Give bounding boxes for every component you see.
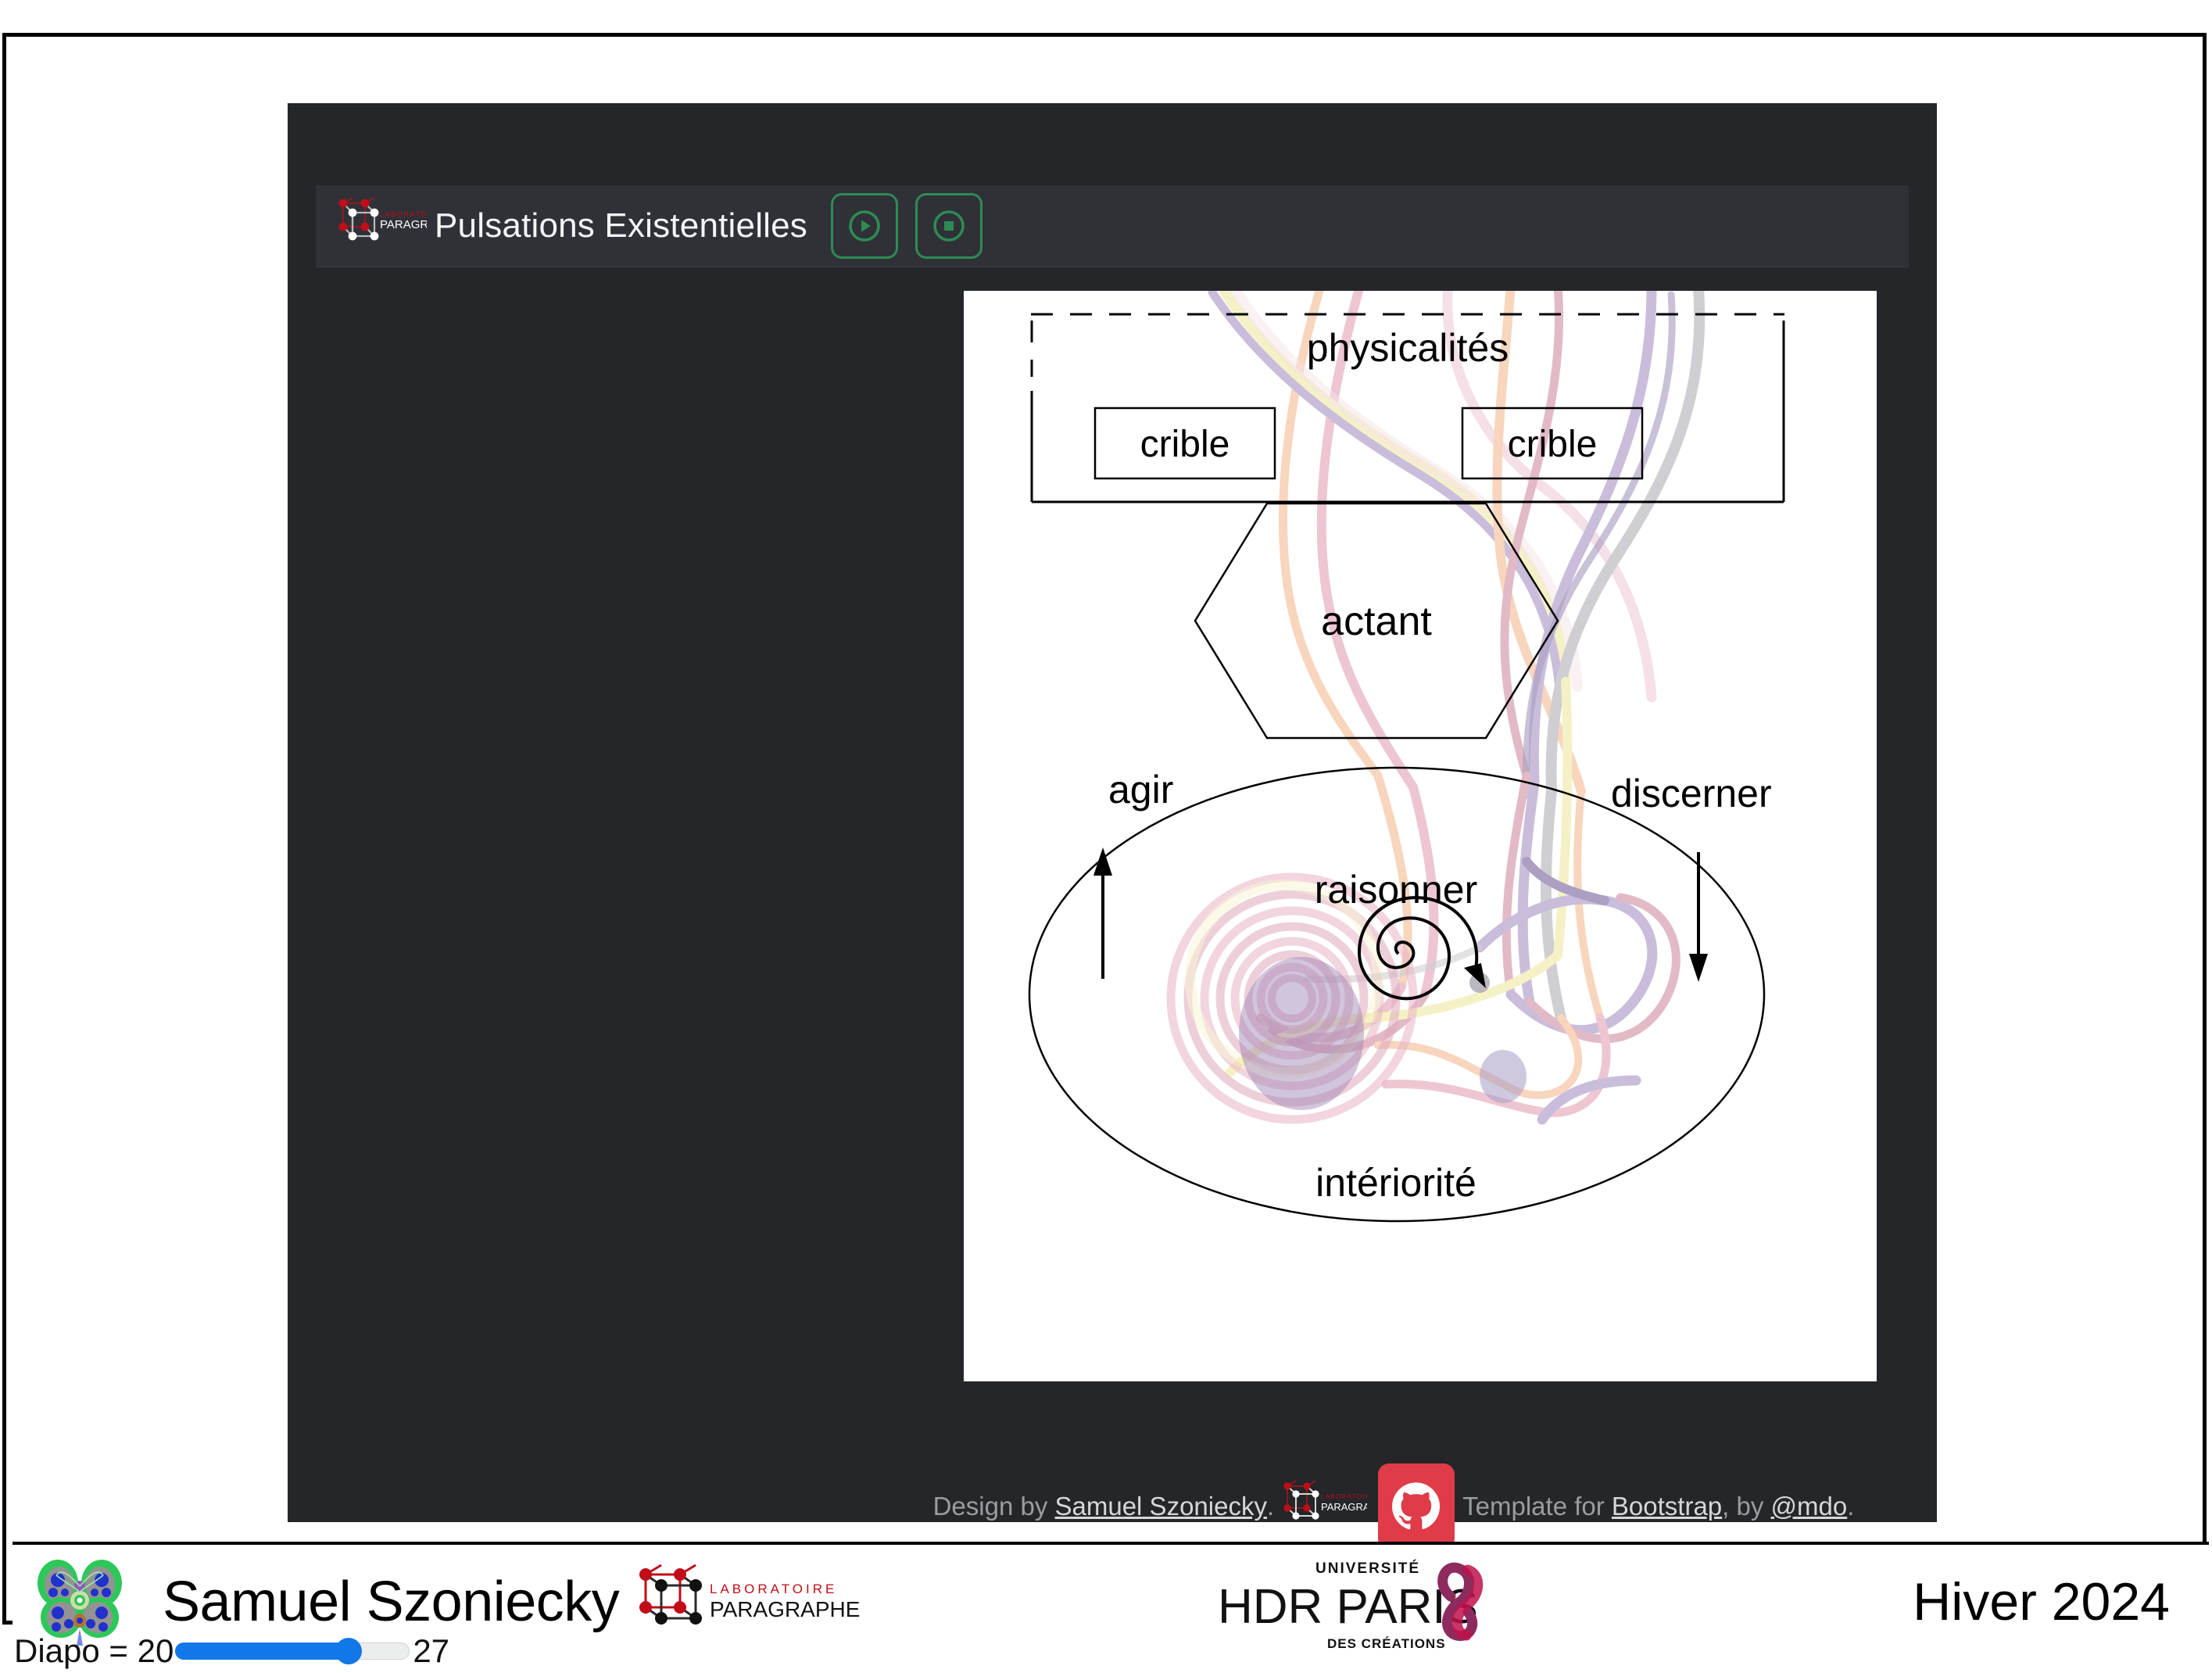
svg-text:LABORATOIRE: LABORATOIRE <box>710 1582 837 1596</box>
crible-right-label: crible <box>1508 424 1598 465</box>
svg-text:LABORATOIRE: LABORATOIRE <box>1321 1493 1367 1500</box>
presentation-deck: LABORATOIRE PARAGRAPHE Pulsations Existe… <box>288 103 1937 1522</box>
presenter-name: Samuel Szoniecky <box>163 1570 619 1634</box>
physicalites-label: physicalités <box>1307 326 1509 370</box>
deck-navbar: LABORATOIRE PARAGRAPHE Pulsations Existe… <box>316 185 1909 267</box>
svg-text:LABORATOIRE: LABORATOIRE <box>380 210 427 218</box>
github-icon <box>1389 1479 1444 1534</box>
author-suffix: . <box>1267 1492 1274 1521</box>
play-circle-icon <box>846 207 883 245</box>
crible-left-label: crible <box>1140 424 1230 465</box>
period-text: . <box>1847 1492 1854 1521</box>
svg-text:PARAGRAPHE: PARAGRAPHE <box>710 1597 860 1621</box>
diapo-range-fill <box>175 1643 349 1660</box>
deck-footer-credits: Design by Samuel Szoniecky . <box>569 1463 2212 1549</box>
by-text: , by <box>1722 1492 1763 1521</box>
raisonner-label: raisonner <box>1315 868 1477 912</box>
stop-circle-icon <box>930 207 968 245</box>
page-frame: LABORATOIRE PARAGRAPHE Pulsations Existe… <box>2 33 2207 1625</box>
hdr-paris8-logo: UNIVERSITÉ HDR PARIS DES CRÉATIONS <box>1210 1551 1515 1653</box>
agir-arrow <box>1093 847 1112 979</box>
github-logo[interactable] <box>1378 1463 1455 1549</box>
actant-label: actant <box>1321 599 1432 644</box>
diapo-label: Diapo = 20 <box>14 1632 174 1670</box>
diapo-range-thumb[interactable] <box>335 1638 362 1664</box>
deck-title: Pulsations Existentielles <box>435 206 807 245</box>
author-link[interactable]: Samuel Szoniecky <box>1055 1492 1267 1521</box>
discerner-label: discerner <box>1611 772 1772 815</box>
small-purple-blob <box>1480 1050 1527 1103</box>
existential-pulsation-diagram: physicalités crible crible actant <box>964 291 1877 1381</box>
diapo-range[interactable] <box>175 1638 410 1664</box>
design-by-text: Design by <box>933 1492 1048 1521</box>
bootstrap-link[interactable]: Bootstrap <box>1612 1492 1722 1521</box>
presentation-page: LABORATOIRE PARAGRAPHE Pulsations Existe… <box>0 0 2212 1673</box>
slide-canvas: physicalités crible crible actant <box>964 291 1877 1381</box>
laboratoire-paragraphe-logo: LABORATOIRE PARAGRAPHE <box>333 192 427 260</box>
stop-button[interactable] <box>915 193 983 259</box>
hdr-creations-text: DES CRÉATIONS <box>1327 1636 1446 1651</box>
mdo-link[interactable]: @mdo <box>1771 1492 1848 1521</box>
laboratoire-paragraphe-logo: LABORATOIRE PARAGRAPHE <box>632 1559 866 1645</box>
svg-text:PARAGRAPHE: PARAGRAPHE <box>380 218 427 231</box>
laboratoire-paragraphe-logo: LABORATOIRE PARAGRAPHE <box>1277 1475 1367 1538</box>
hdr-universite-text: UNIVERSITÉ <box>1315 1560 1420 1577</box>
playback-controls <box>831 193 983 259</box>
season-label: Hiver 2024 <box>1913 1571 2170 1632</box>
template-for-text: Template for <box>1462 1492 1605 1521</box>
agir-label: agir <box>1108 768 1173 811</box>
slide-selector: Diapo = 20 27 <box>14 1632 449 1670</box>
play-button[interactable] <box>831 193 898 259</box>
diapo-total: 27 <box>413 1632 449 1670</box>
purple-blob <box>1239 957 1364 1110</box>
interiorite-label: intériorité <box>1315 1161 1476 1205</box>
svg-text:PARAGRAPHE: PARAGRAPHE <box>1321 1501 1367 1513</box>
